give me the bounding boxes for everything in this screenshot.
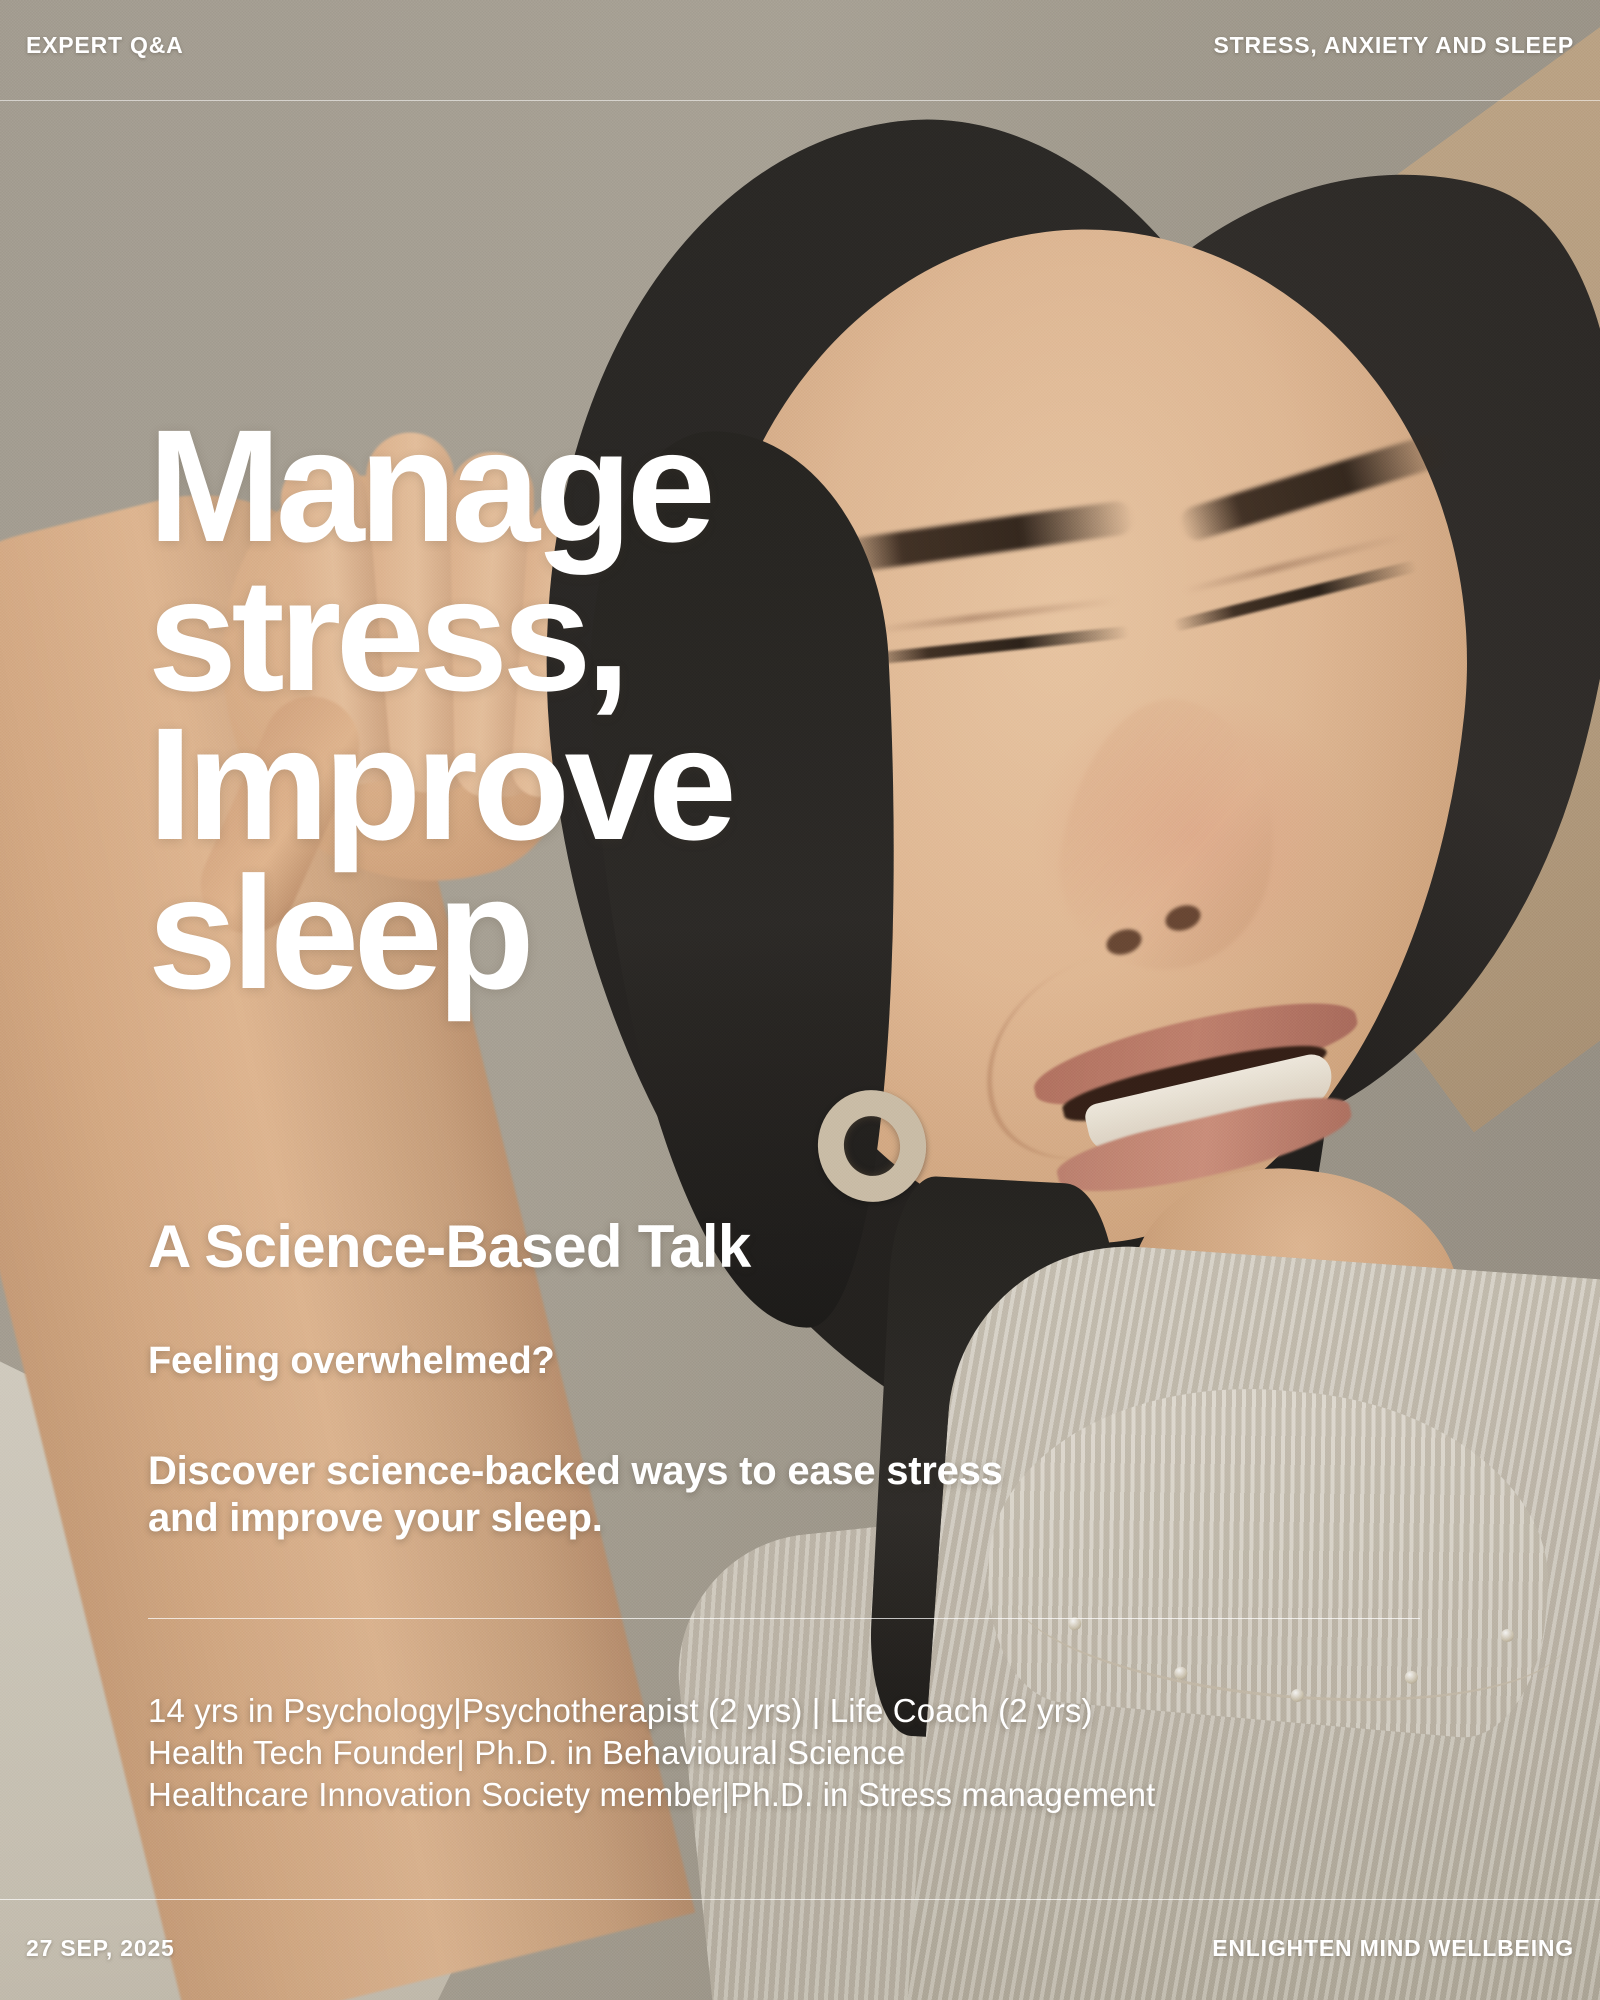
credentials-line-3: Healthcare Innovation Society member|Ph.… [148, 1774, 1548, 1816]
footer-date: 27 SEP, 2025 [26, 1935, 175, 1962]
poster-canvas: EXPERT Q&A STRESS, ANXIETY AND SLEEP Man… [0, 0, 1600, 2000]
page-title: Manage stress, Improve sleep [148, 412, 1048, 1007]
subheadline: A Science-Based Talk [148, 1212, 751, 1281]
body-line-1: Discover science-backed ways to ease str… [148, 1448, 1528, 1495]
credentials-line-1: 14 yrs in Psychology|Psychotherapist (2 … [148, 1690, 1548, 1732]
credentials-line-2: Health Tech Founder| Ph.D. in Behavioura… [148, 1732, 1548, 1774]
headline-line-1: Manage [148, 412, 1048, 561]
body-line-2: and improve your sleep. [148, 1495, 1528, 1542]
header-divider-rule [0, 100, 1600, 101]
headline-line-2: stress, [148, 561, 1048, 710]
credentials-block: 14 yrs in Psychology|Psychotherapist (2 … [148, 1690, 1548, 1817]
body-copy: Discover science-backed ways to ease str… [148, 1448, 1528, 1542]
header-right-label: STRESS, ANXIETY AND SLEEP [1213, 32, 1574, 59]
footer-divider-rule [0, 1899, 1600, 1900]
footer-brand: ENLIGHTEN MIND WELLBEING [1212, 1935, 1574, 1962]
header-left-label: EXPERT Q&A [26, 32, 184, 59]
credentials-divider-rule [148, 1618, 1420, 1619]
poster-text-layer: EXPERT Q&A STRESS, ANXIETY AND SLEEP Man… [0, 0, 1600, 2000]
headline-line-3: Improve [148, 710, 1048, 859]
lead-question: Feeling overwhelmed? [148, 1340, 555, 1383]
headline-line-4: sleep [148, 859, 1048, 1008]
